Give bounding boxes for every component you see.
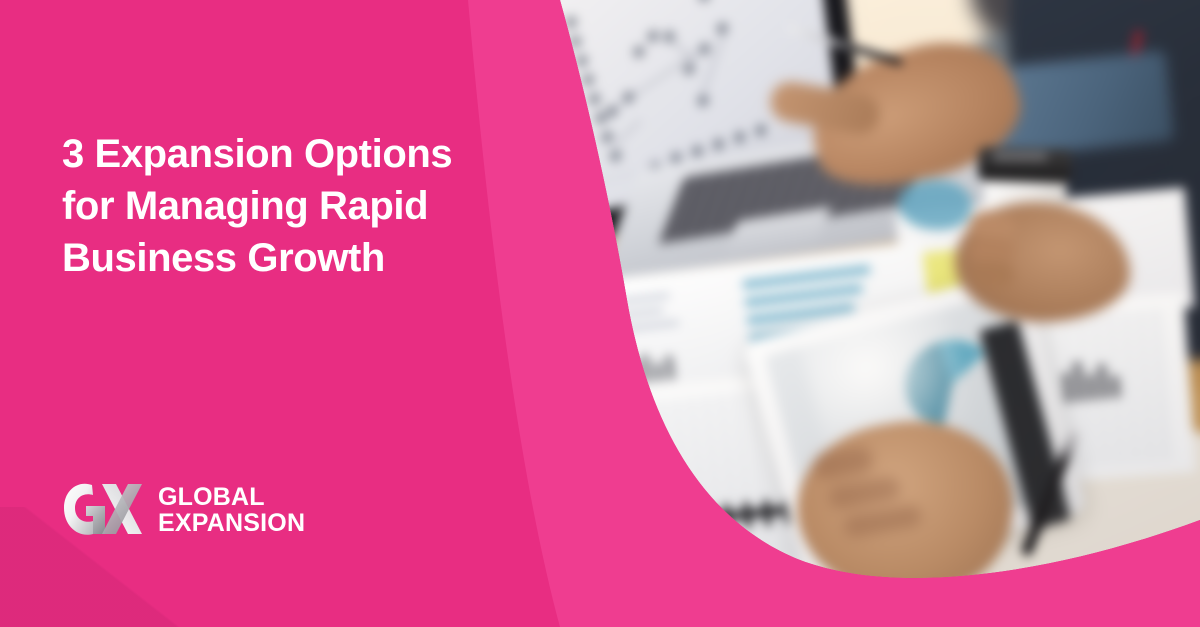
coffee-cup-lid-highlight [992, 152, 1048, 161]
logo-wordmark: GLOBAL EXPANSION [158, 484, 305, 537]
report-blob-chart [898, 180, 972, 230]
cup-finger-3 [972, 261, 1015, 287]
dark-bar-chart [1058, 351, 1128, 404]
headline-line-1: 3 Expansion Options [62, 128, 562, 180]
blog-hero-banner: 3 Expansion Options for Managing Rapid B… [0, 0, 1200, 627]
brand-logo[interactable]: GLOBAL EXPANSION [62, 482, 305, 538]
page-title: 3 Expansion Options for Managing Rapid B… [62, 128, 562, 284]
headline-line-2: for Managing Rapid [62, 180, 562, 232]
gx-monogram-icon [62, 482, 144, 538]
logo-line-global: GLOBAL [158, 484, 305, 511]
headline-line-3: Business Growth [62, 232, 562, 284]
logo-line-expansion: EXPANSION [158, 510, 305, 537]
